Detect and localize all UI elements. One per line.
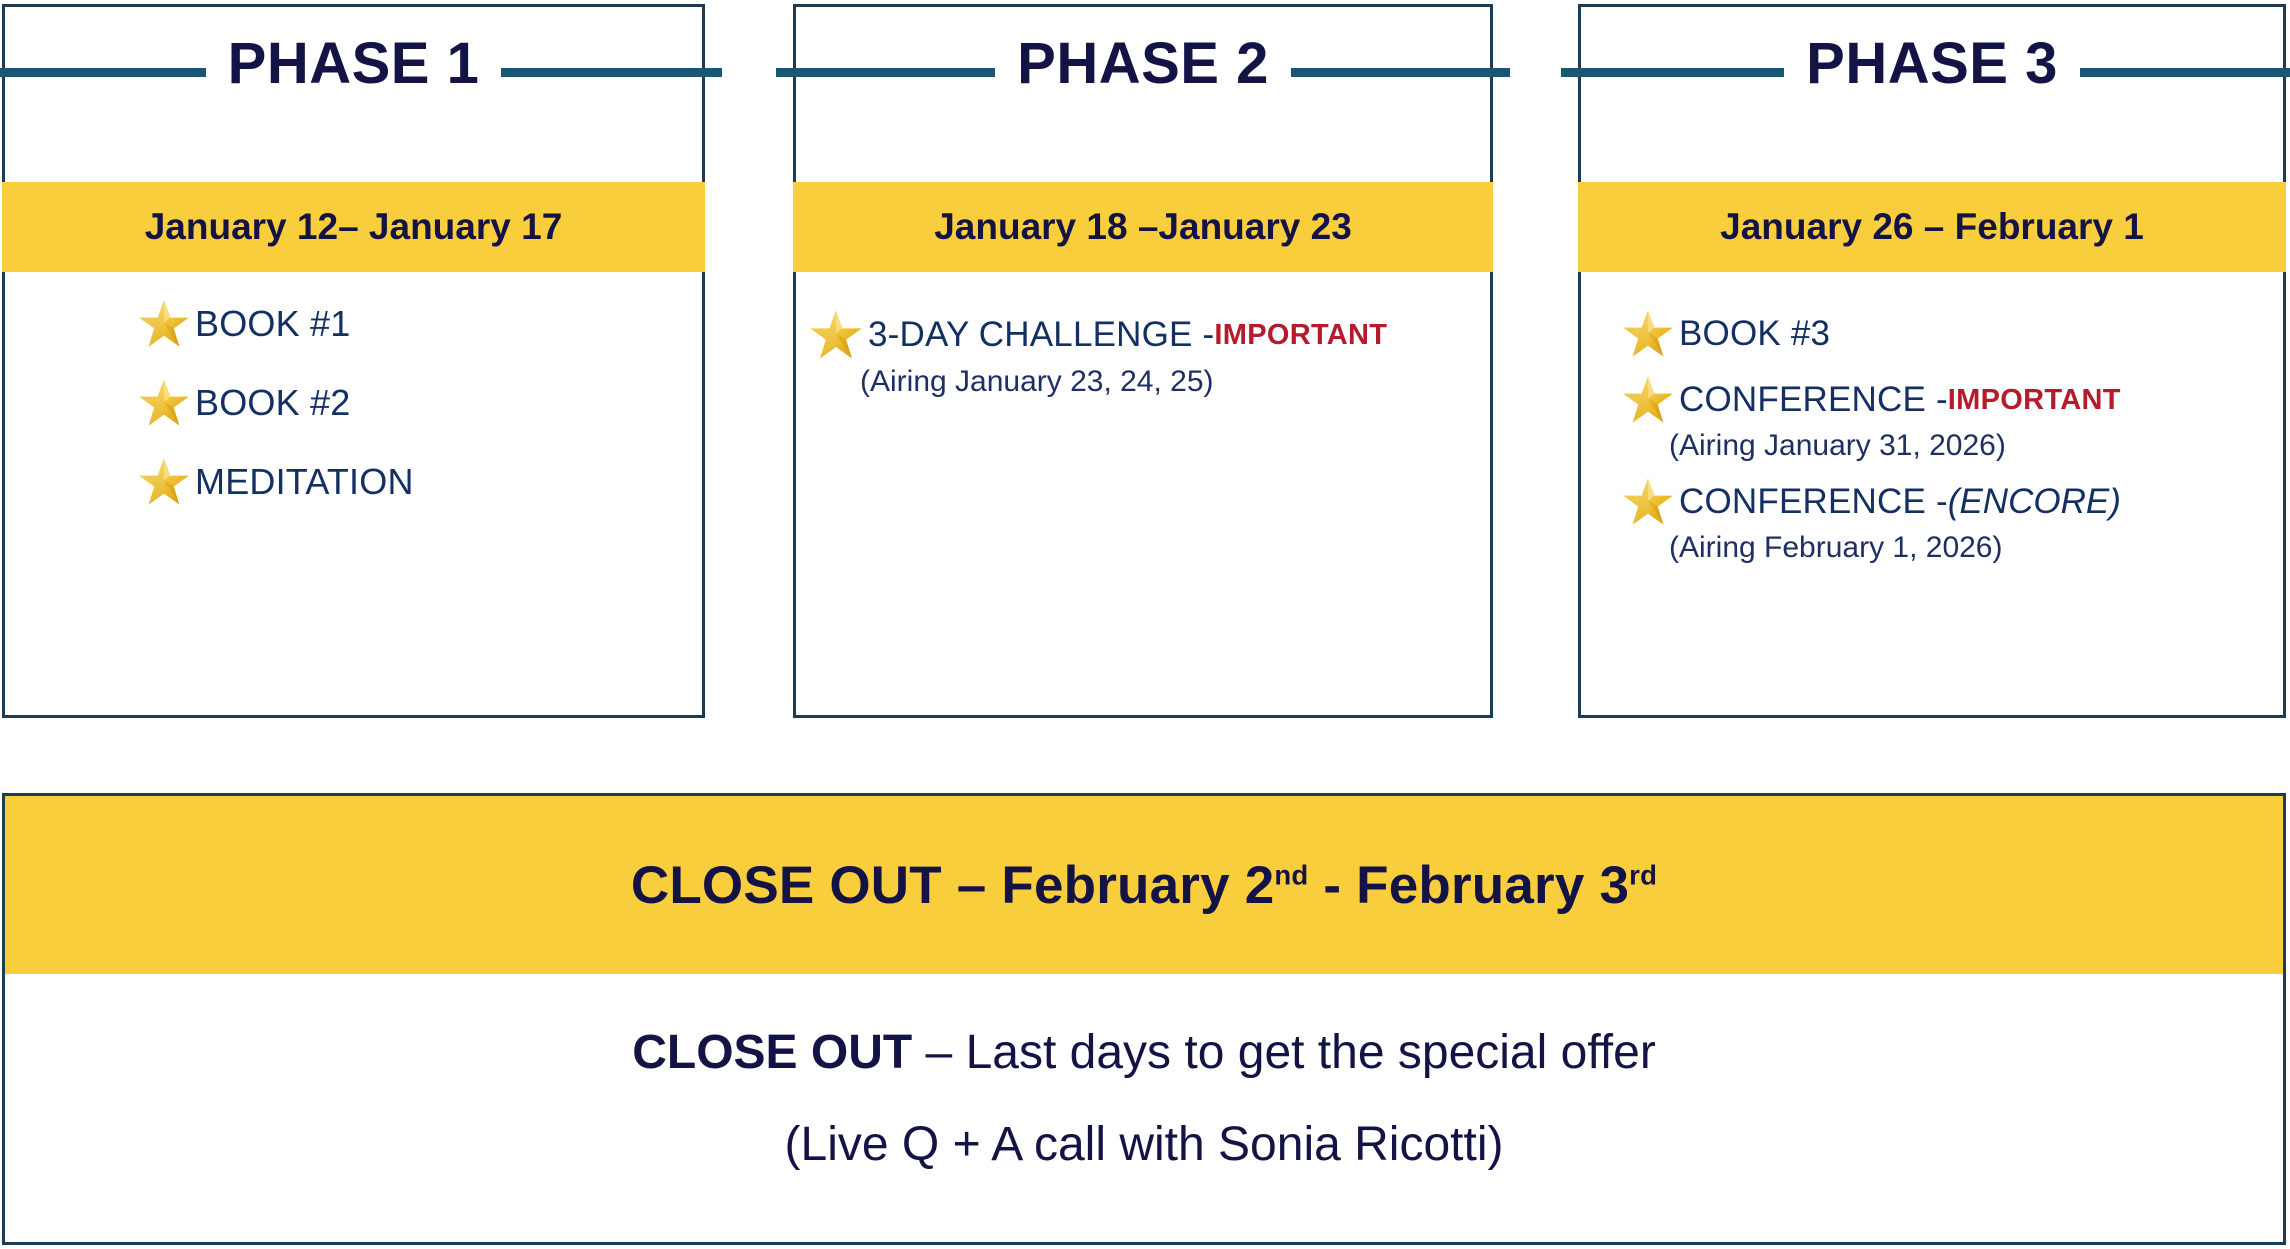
closeout-headline-strong: CLOSE OUT <box>632 1026 912 1079</box>
phase-3-items: BOOK #3 CONFERENCE - IMPORTANT (Airing J… <box>1581 307 2283 577</box>
closeout-headline: CLOSE OUT – Last days to get the special… <box>632 1029 1656 1077</box>
list-item-label: BOOK #2 <box>195 382 350 424</box>
list-item-note: (Airing January 23, 24, 25) <box>808 365 1490 399</box>
closeout-box: CLOSE OUT – February 2nd - February 3rd … <box>2 793 2286 1245</box>
phase-cards-row: PHASE 1 January 12– January 17 BOOK #1 <box>0 0 2290 722</box>
closeout-body: CLOSE OUT – Last days to get the special… <box>5 974 2283 1242</box>
list-item-label: BOOK #3 <box>1679 314 1830 354</box>
important-badge: IMPORTANT <box>1214 319 1387 352</box>
list-item: CONFERENCE - (ENCORE) (Airing February 1… <box>1621 475 2283 565</box>
star-icon <box>808 307 864 363</box>
list-item-label: MEDITATION <box>195 461 414 503</box>
list-item: MEDITATION <box>137 455 702 509</box>
star-icon <box>137 297 191 351</box>
closeout-band-middle: - February 3 <box>1308 856 1629 915</box>
encore-label: (ENCORE) <box>1948 482 2121 522</box>
star-icon <box>137 376 191 430</box>
phase-1-items: BOOK #1 BOOK #2 MEDITATION <box>5 297 702 534</box>
phase-3-date-band: January 26 – February 1 <box>1578 182 2286 272</box>
star-icon <box>137 455 191 509</box>
phase-3-header: PHASE 3 <box>1561 29 2290 99</box>
list-item-label: CONFERENCE - <box>1679 380 1948 420</box>
phase-1-header: PHASE 1 <box>0 29 722 99</box>
phase-card-2: PHASE 2 January 18 –January 23 3-DAY CHA… <box>793 4 1493 718</box>
closeout-band-ordinal-1: nd <box>1274 859 1308 890</box>
phase-card-1: PHASE 1 January 12– January 17 BOOK #1 <box>2 4 705 718</box>
list-item: BOOK #2 <box>137 376 702 430</box>
closeout-date-text: CLOSE OUT – February 2nd - February 3rd <box>631 855 1657 916</box>
list-item-label: BOOK #1 <box>195 303 350 345</box>
phase-2-items: 3-DAY CHALLENGE - IMPORTANT (Airing Janu… <box>796 307 1490 399</box>
closeout-band-prefix: CLOSE OUT – February 2 <box>631 856 1275 915</box>
closeout-date-band: CLOSE OUT – February 2nd - February 3rd <box>5 796 2283 974</box>
star-icon <box>1621 475 1675 529</box>
important-badge: IMPORTANT <box>1948 384 2121 417</box>
list-item: CONFERENCE - IMPORTANT (Airing January 3… <box>1621 373 2283 463</box>
phase-1-date-band: January 12– January 17 <box>2 182 705 272</box>
list-item-label: 3-DAY CHALLENGE - <box>868 315 1214 355</box>
phase-2-title: PHASE 2 <box>995 30 1291 98</box>
star-icon <box>1621 373 1675 427</box>
list-item-note: (Airing February 1, 2026) <box>1621 531 2283 565</box>
list-item-label: CONFERENCE - <box>1679 482 1948 522</box>
list-item: BOOK #3 <box>1621 307 2283 361</box>
list-item: BOOK #1 <box>137 297 702 351</box>
closeout-headline-rest: – Last days to get the special offer <box>912 1026 1656 1079</box>
list-item-note: (Airing January 31, 2026) <box>1621 429 2283 463</box>
phase-2-header: PHASE 2 <box>776 29 1510 99</box>
star-icon <box>1621 307 1675 361</box>
phase-3-title: PHASE 3 <box>1784 30 2080 98</box>
closeout-subline: (Live Q + A call with Sonia Ricotti) <box>785 1121 1504 1169</box>
phase-card-3: PHASE 3 January 26 – February 1 BOOK #3 <box>1578 4 2286 718</box>
phase-2-date-band: January 18 –January 23 <box>793 182 1493 272</box>
list-item: 3-DAY CHALLENGE - IMPORTANT (Airing Janu… <box>808 307 1490 399</box>
closeout-band-ordinal-2: rd <box>1629 859 1657 890</box>
phase-1-title: PHASE 1 <box>206 30 502 98</box>
